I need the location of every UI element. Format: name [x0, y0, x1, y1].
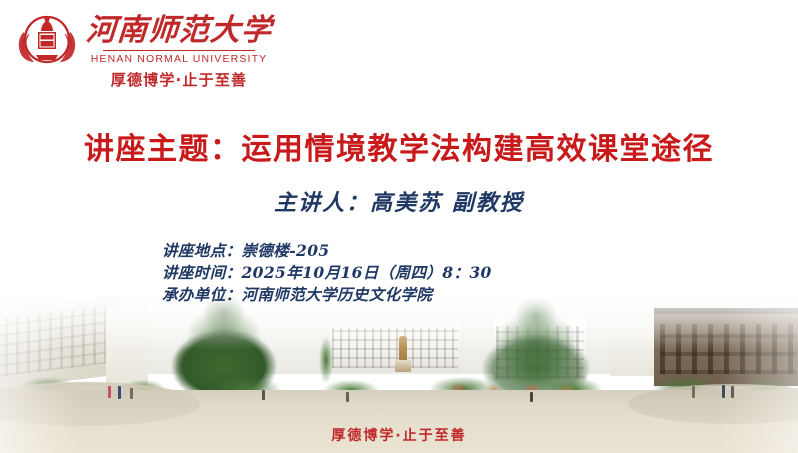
photo-person [731, 386, 734, 398]
photo-person [346, 392, 349, 402]
lecture-speaker: 主讲人：高美苏 副教授 [0, 185, 798, 217]
university-name-cn: 河南师范大学 [85, 14, 273, 48]
photo-building-far-right-windows [660, 324, 796, 374]
photo-person [262, 390, 265, 400]
lecture-title: 讲座主题：运用情境教学法构建高效课堂途径 [0, 124, 798, 168]
lecture-time: 讲座时间：2025年10月16日（周四）8：30 [162, 262, 492, 284]
university-name-en: HENAN NORMAL UNIVERSITY [91, 53, 268, 65]
photo-person [722, 385, 725, 398]
lecture-poster: 河南师范大学 HENAN NORMAL UNIVERSITY 厚德博学·止于至善… [0, 0, 798, 453]
photo-person [530, 392, 533, 402]
lecture-location: 讲座地点：崇德楼-205 [162, 240, 492, 262]
photo-person [108, 386, 111, 398]
university-motto-top: 厚德博学·止于至善 [111, 69, 248, 90]
logo-divider-rule [103, 50, 255, 51]
photo-person [130, 388, 133, 399]
photo-statue [399, 336, 407, 362]
poster-bottom-motto: 厚德博学·止于至善 [0, 425, 798, 445]
photo-statue-base [395, 360, 411, 372]
logo-wordmark: 河南师范大学 HENAN NORMAL UNIVERSITY 厚德博学·止于至善 [86, 6, 272, 90]
university-logo: 河南师范大学 HENAN NORMAL UNIVERSITY 厚德博学·止于至善 [14, 6, 272, 98]
university-crest-icon [14, 10, 80, 72]
lecture-info-block: 讲座地点：崇德楼-205 讲座时间：2025年10月16日（周四）8：30 承办… [162, 240, 492, 306]
photo-person [692, 386, 695, 398]
photo-person [118, 386, 121, 399]
lecture-organizer: 承办单位：河南师范大学历史文化学院 [162, 284, 492, 306]
